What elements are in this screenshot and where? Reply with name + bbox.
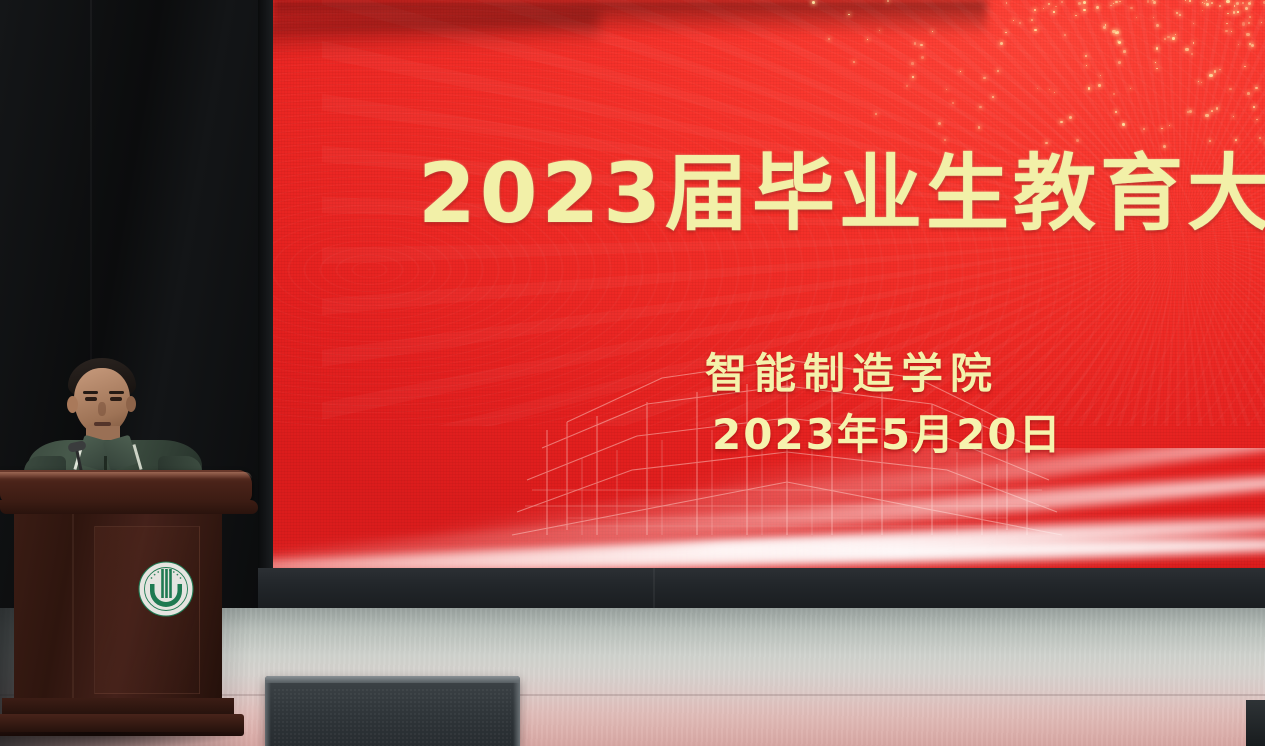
stage-object-right [1246,700,1265,746]
podium-body-edge [72,514,74,704]
speaking-podium [0,470,260,746]
organization-name: 智能制造学院 [705,353,999,395]
podium-desktop-lip [0,500,258,514]
led-display-screen: 2023届毕业生教育大会 智能制造学院 2023年5月20日 [272,0,1265,568]
ear-left [67,396,78,413]
light-ribbon-swoosh [272,448,1265,568]
monitor-bevel-right [513,680,520,746]
monitor-grille [273,688,511,746]
eyebrow-left [83,391,98,394]
eyebrow-right [109,391,124,394]
stage-monitor-speaker [265,676,520,746]
monitor-top-edge [265,676,520,683]
golden-sparkles [788,0,1265,150]
podium-shadow [0,732,250,746]
screen-frame-left [258,0,273,610]
podium-desktop [0,470,252,504]
eye-right [110,397,122,401]
ear-right [126,396,136,412]
screen-base-panel [258,568,1265,610]
university-emblem [137,560,195,618]
event-date: 2023年5月20日 [712,414,1063,456]
nose [98,402,106,416]
monitor-bevel-left [265,680,271,746]
event-title: 2023届毕业生教育大会 [418,152,1265,235]
eye-left [85,397,97,401]
auditorium-stage-scene: 2023届毕业生教育大会 智能制造学院 2023年5月20日 [0,0,1265,746]
